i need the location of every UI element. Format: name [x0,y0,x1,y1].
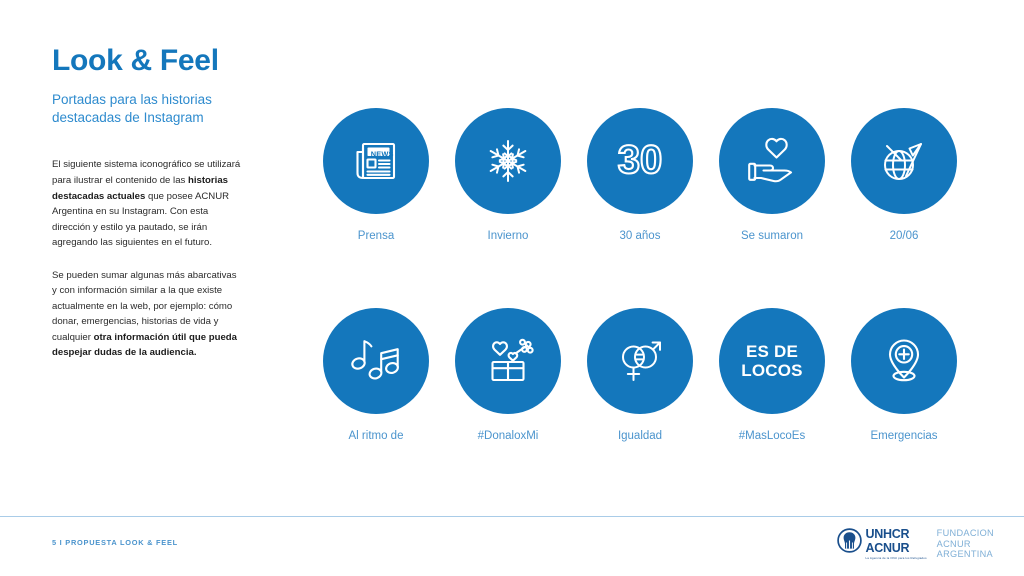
unhcr-tagline: La Agencia de la ONU para los Refugiados [866,557,927,560]
newspaper-icon [351,138,401,184]
unhcr-emblem-icon [837,528,862,553]
icon-label-al-ritmo-de: Al ritmo de [349,430,404,442]
icon-circle-se-sumaron[interactable] [719,108,825,214]
icon-circle-20-06[interactable] [851,108,957,214]
icon-label-maslocoes: #MasLocoEs [739,430,805,442]
icon-circle-invierno[interactable] [455,108,561,214]
icon-label-invierno: Invierno [488,230,529,242]
newspaper-icon-masthead: NEWS [371,149,394,158]
icon-circle-al-ritmo-de[interactable] [323,308,429,414]
icon-label-emergencias: Emergencias [870,430,937,442]
acnur-label: ACNUR [866,542,927,555]
icon-cell-invierno[interactable]: Invierno [442,108,574,242]
icon-cell-donaloxmi[interactable]: #DonaloxMi [442,308,574,442]
icon-circle-igualdad[interactable] [587,308,693,414]
icon-circle-prensa[interactable]: NEWS [323,108,429,214]
fundacion-line-2: ACNUR [937,539,994,550]
left-text-column: Look & Feel Portadas para las historias … [52,44,264,378]
hand-heart-icon [746,137,798,185]
page-subtitle: Portadas para las historias destacadas d… [52,91,264,127]
icon-grid: NEWS Prensa [310,108,970,442]
number-30-icon: 30 [609,138,671,184]
icon-cell-se-sumaron[interactable]: Se sumaron [706,108,838,242]
unhcr-logo: UNHCR ACNUR La Agencia de la ONU para lo… [837,528,927,559]
icon-cell-20-06[interactable]: 20/06 [838,108,970,242]
map-pin-cross-icon [881,336,927,386]
music-notes-icon [350,337,402,385]
fundacion-line-3: ARGENTINA [937,549,994,560]
fundacion-line-1: FUNDACION [937,528,994,539]
footer-divider [0,516,1024,517]
icon-cell-maslocoes[interactable]: ES DE LOCOS #MasLocoEs [706,308,838,442]
icon-grid-row: NEWS Prensa [310,108,970,242]
icon-label-se-sumaron: Se sumaron [741,230,803,242]
icon-cell-30-anos[interactable]: 30 30 años [574,108,706,242]
body-paragraph-2: Se pueden sumar algunas más abarcativas … [52,268,242,361]
icon-circle-donaloxmi[interactable] [455,308,561,414]
gender-equality-icon [615,336,665,386]
icon-label-30-anos: 30 años [620,230,661,242]
footer-logo-lockup: UNHCR ACNUR La Agencia de la ONU para lo… [837,528,994,560]
icon-cell-al-ritmo-de[interactable]: Al ritmo de [310,308,442,442]
icon-cell-igualdad[interactable]: Igualdad [574,308,706,442]
icon-circle-maslocoes[interactable]: ES DE LOCOS [719,308,825,414]
unhcr-wordmark: UNHCR ACNUR La Agencia de la ONU para lo… [866,528,927,559]
icon-circle-30-anos[interactable]: 30 [587,108,693,214]
fundacion-acnur-argentina-logo: FUNDACION ACNUR ARGENTINA [935,528,994,560]
icon-cell-emergencias[interactable]: Emergencias [838,308,970,442]
body-paragraph-1: El siguiente sistema iconográfico se uti… [52,157,242,250]
page-title: Look & Feel [52,44,264,77]
icon-cell-prensa[interactable]: NEWS Prensa [310,108,442,242]
snowflake-icon [484,137,532,185]
es-de-locos-text-icon: ES DE LOCOS [741,342,802,380]
icon-label-igualdad: Igualdad [618,430,662,442]
unhcr-label: UNHCR [866,528,927,541]
gift-hearts-icon [482,337,534,385]
icon-circle-emergencias[interactable] [851,308,957,414]
footer-slide-note: 5 I PROPUESTA LOOK & FEEL [52,538,178,547]
number-30-icon-digits: 30 [618,138,663,182]
icon-grid-row: Al ritmo de [310,308,970,442]
globe-flag-icon [879,136,929,186]
icon-label-donaloxmi: #DonaloxMi [478,430,539,442]
icon-label-prensa: Prensa [358,230,394,242]
slide-canvas: Look & Feel Portadas para las historias … [0,0,1024,576]
icon-label-20-06: 20/06 [890,230,919,242]
